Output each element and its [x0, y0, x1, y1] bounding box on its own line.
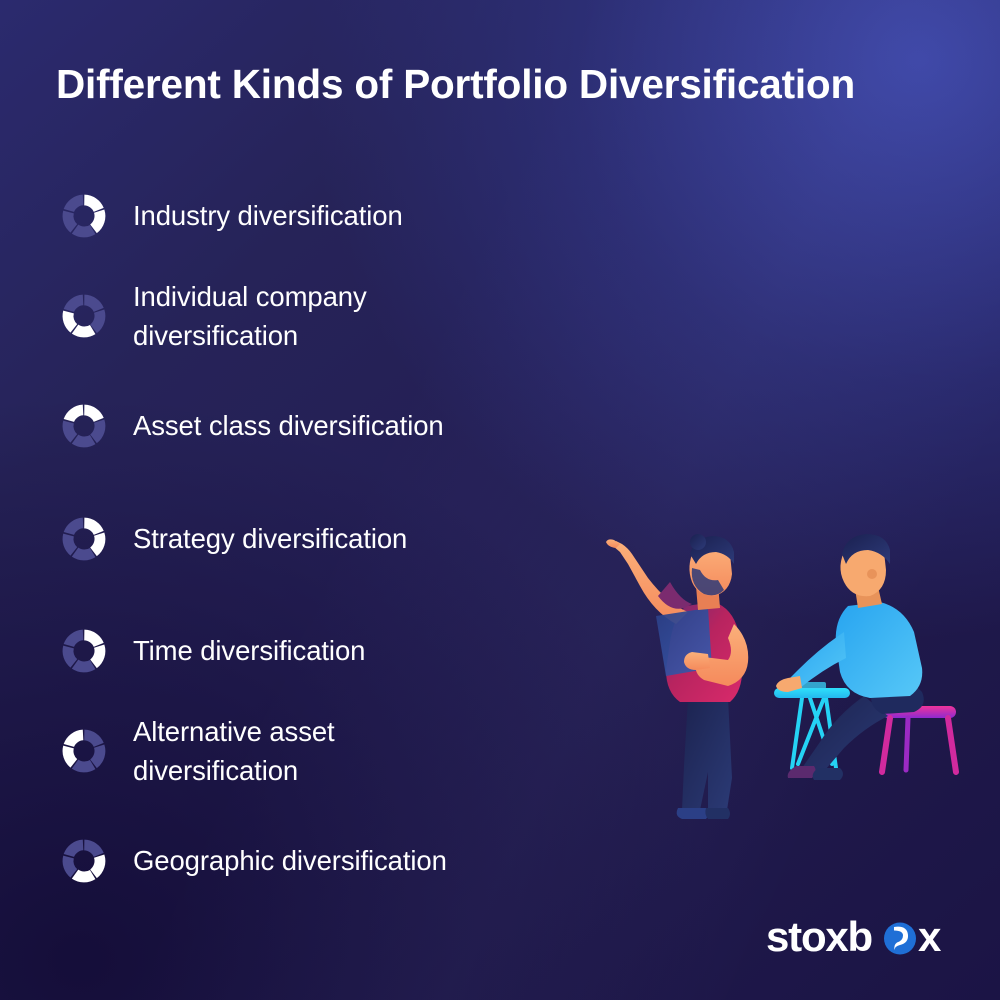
donut-chart-icon	[56, 511, 112, 567]
list-item-label: Strategy diversification	[133, 519, 407, 558]
list-item[interactable]: Industry diversification	[56, 188, 403, 244]
donut-chart-icon	[56, 398, 112, 454]
list-item-label: Time diversification	[133, 631, 365, 670]
list-item-label: Geographic diversification	[133, 841, 447, 880]
two-people-presenting-illustration	[596, 520, 976, 840]
donut-chart-icon	[56, 723, 112, 779]
donut-chart-icon	[56, 833, 112, 889]
logo-text-before: stoxb	[766, 914, 872, 960]
list-item[interactable]: Time diversification	[56, 623, 365, 679]
stoxbox-o-mark	[884, 923, 916, 955]
list-item[interactable]: Geographic diversification	[56, 833, 447, 889]
list-item[interactable]: Alternative asset diversification	[56, 712, 335, 790]
logo-text-after: x	[918, 914, 942, 960]
donut-chart-icon	[56, 188, 112, 244]
list-item-label: Individual company diversification	[133, 277, 367, 355]
list-item-label: Asset class diversification	[133, 406, 444, 445]
list-item-label: Industry diversification	[133, 196, 403, 235]
stoxbox-logo[interactable]: stoxb x	[766, 914, 962, 962]
infographic-poster: Different Kinds of Portfolio Diversifica…	[0, 0, 1000, 1000]
page-title: Different Kinds of Portfolio Diversifica…	[56, 62, 956, 107]
seated-man-at-table	[774, 534, 956, 780]
list-item[interactable]: Strategy diversification	[56, 511, 407, 567]
standing-man-pointing	[606, 534, 748, 819]
list-item-label: Alternative asset diversification	[133, 712, 335, 790]
list-item[interactable]: Asset class diversification	[56, 398, 444, 454]
donut-chart-icon	[56, 623, 112, 679]
donut-chart-icon	[56, 288, 112, 344]
list-item[interactable]: Individual company diversification	[56, 277, 367, 355]
